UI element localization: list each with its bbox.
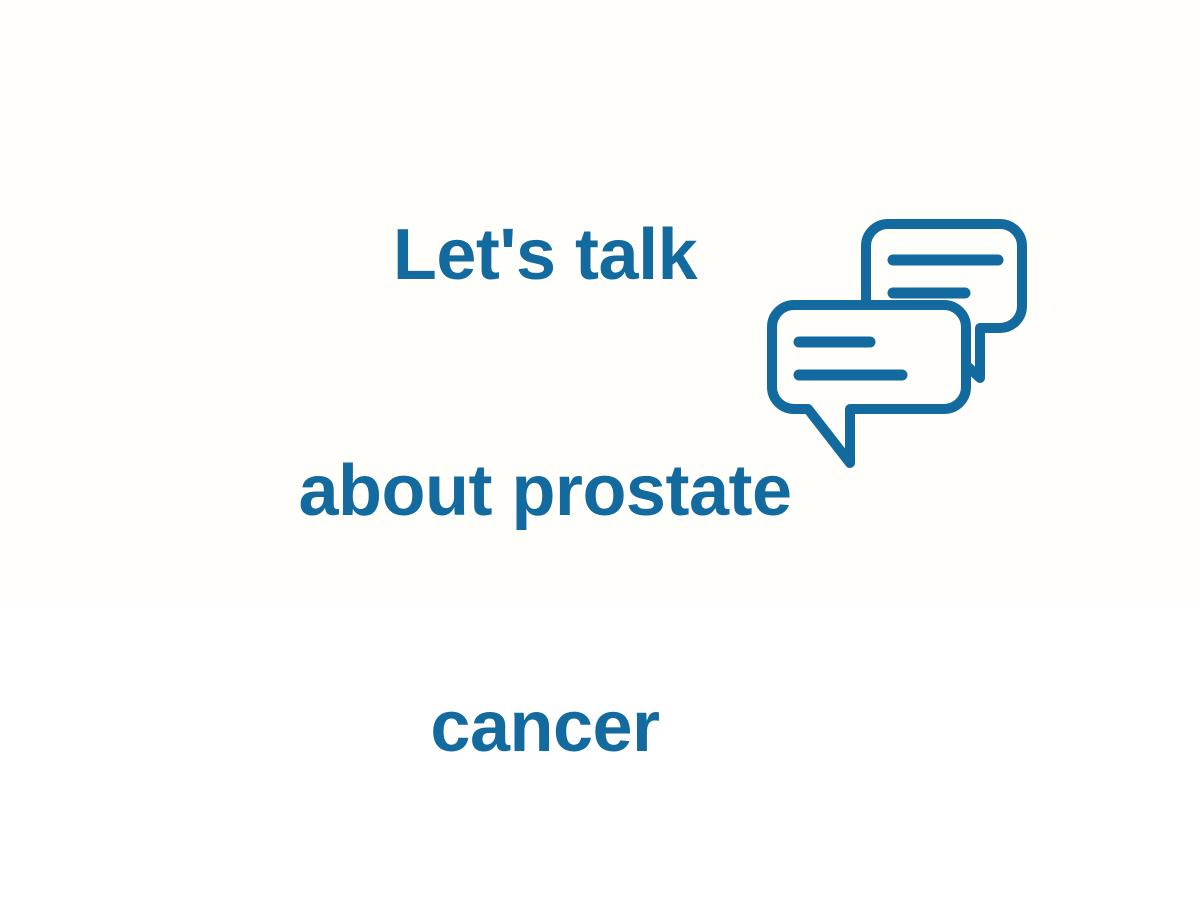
headline-line-3: cancer: [0, 668, 1090, 786]
speech-bubbles-icon: [760, 212, 1028, 474]
bubble-front-left-outline: [772, 305, 966, 463]
page-title: Let's talk about prostate cancer: [0, 78, 1090, 904]
bubble-front-left: [772, 305, 966, 463]
promo-banner: Let's talk about prostate cancer: [0, 0, 1200, 600]
